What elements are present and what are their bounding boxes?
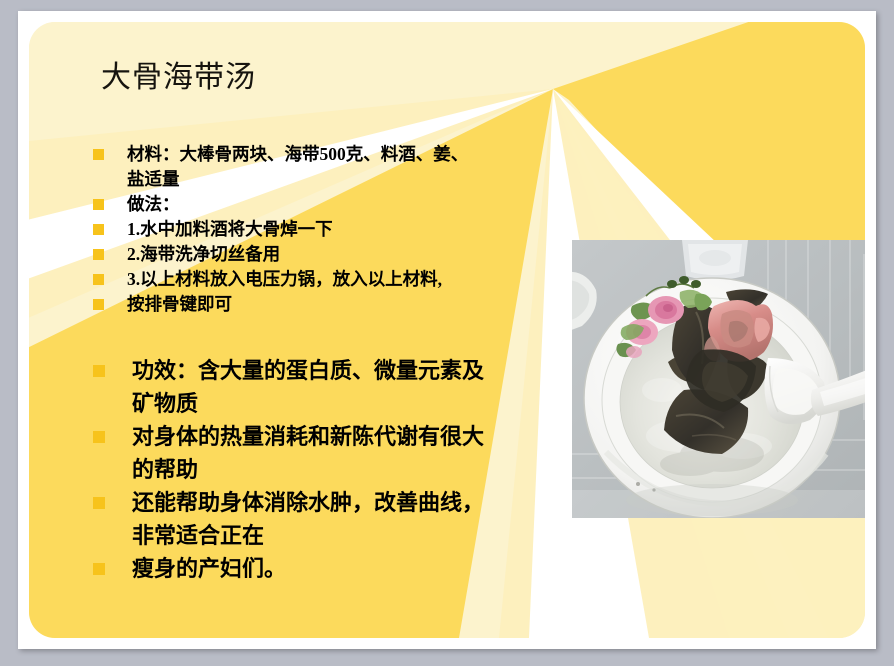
list-item: 非常适合正在 <box>93 520 573 551</box>
list-item: 功效：含大量的蛋白质、微量元素及 <box>93 355 573 386</box>
bullet-square-icon <box>93 563 105 575</box>
list-item-label: 做法： <box>104 192 180 216</box>
bullet-square-icon <box>93 431 105 443</box>
benefits-list: 功效：含大量的蛋白质、微量元素及 矿物质 对身体的热量消耗和新陈代谢有很大 的帮… <box>93 355 573 586</box>
bullet-square-icon <box>93 497 105 509</box>
list-item: 3.以上材料放入电压力锅，放入以上材料, <box>93 267 563 291</box>
bullet-square-icon <box>93 464 105 476</box>
list-item: 盐适量 <box>93 167 563 191</box>
bullet-square-icon <box>93 149 104 160</box>
list-item: 的帮助 <box>93 454 573 485</box>
list-item-label: 功效：含大量的蛋白质、微量元素及 <box>105 355 484 386</box>
list-item: 2.海带洗净切丝备用 <box>93 242 563 266</box>
list-item-label: 2.海带洗净切丝备用 <box>104 242 280 266</box>
slide-frame: 大骨海带汤 材料：大棒骨两块、海带500克、料酒、姜、 盐适量 做法： 1. <box>18 11 876 649</box>
list-item-label: 矿物质 <box>105 388 198 419</box>
list-item: 材料：大棒骨两块、海带500克、料酒、姜、 <box>93 142 563 166</box>
bullet-square-icon <box>93 174 104 185</box>
list-item: 1.水中加料酒将大骨焯一下 <box>93 217 563 241</box>
bullet-square-icon <box>93 274 104 285</box>
soup-photo <box>572 240 865 518</box>
soup-photo-image <box>572 240 865 518</box>
bullet-square-icon <box>93 299 104 310</box>
list-item-label: 按排骨键即可 <box>104 292 232 316</box>
list-item: 做法： <box>93 192 563 216</box>
list-item-label: 3.以上材料放入电压力锅，放入以上材料, <box>104 267 442 291</box>
slide-canvas: 大骨海带汤 材料：大棒骨两块、海带500克、料酒、姜、 盐适量 做法： 1. <box>29 22 865 638</box>
list-item-label: 的帮助 <box>105 454 198 485</box>
list-item: 还能帮助身体消除水肿，改善曲线， <box>93 487 573 518</box>
list-item: 矿物质 <box>93 388 573 419</box>
list-item-label: 1.水中加料酒将大骨焯一下 <box>104 217 333 241</box>
bullet-square-icon <box>93 398 105 410</box>
list-item-label: 材料：大棒骨两块、海带500克、料酒、姜、 <box>104 142 468 166</box>
list-item: 瘦身的产妇们。 <box>93 553 573 584</box>
bullet-square-icon <box>93 249 104 260</box>
ingredients-steps-list: 材料：大棒骨两块、海带500克、料酒、姜、 盐适量 做法： 1.水中加料酒将大骨… <box>93 142 563 317</box>
list-item-label: 对身体的热量消耗和新陈代谢有很大 <box>105 421 484 452</box>
list-item-label: 瘦身的产妇们。 <box>105 553 286 584</box>
bullet-square-icon <box>93 199 104 210</box>
bullet-square-icon <box>93 224 104 235</box>
bullet-square-icon <box>93 365 105 377</box>
list-item: 对身体的热量消耗和新陈代谢有很大 <box>93 421 573 452</box>
list-item-label: 盐适量 <box>104 167 180 191</box>
list-item-label: 非常适合正在 <box>105 520 264 551</box>
list-item: 按排骨键即可 <box>93 292 563 316</box>
bullet-square-icon <box>93 530 105 542</box>
page-title: 大骨海带汤 <box>101 59 256 97</box>
list-item-label: 还能帮助身体消除水肿，改善曲线， <box>105 487 484 518</box>
